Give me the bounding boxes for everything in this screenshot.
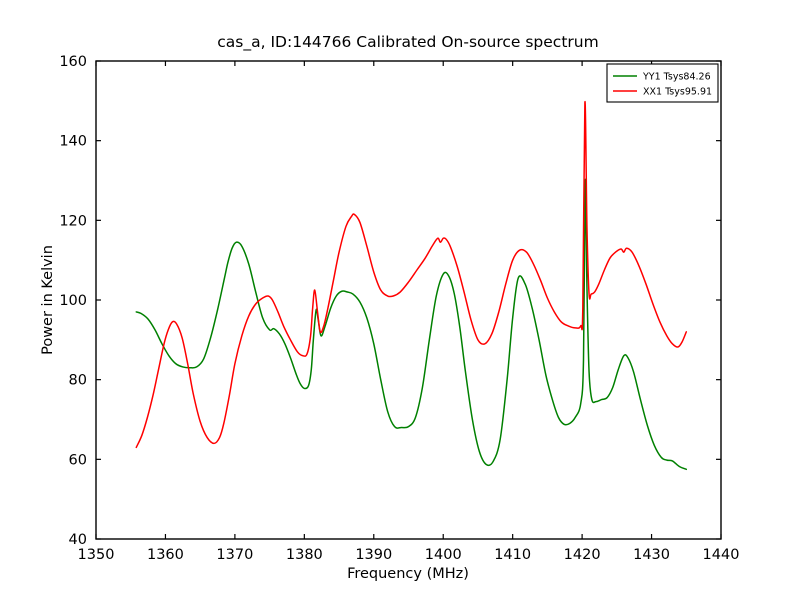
y-tick-label: 100 [59,293,87,309]
x-tick-label: 1380 [286,547,323,563]
x-tick-label: 1400 [425,547,462,563]
x-tick-label: 1370 [216,547,253,563]
y-tick-label: 160 [59,54,87,70]
y-tick-label: 40 [69,532,87,548]
legend[interactable]: YY1 Tsys84.26 XX1 Tsys95.91 [607,64,718,102]
x-tick-label: 1420 [564,547,601,563]
x-tick-label: 1440 [703,547,740,563]
y-tick-label: 80 [69,373,87,389]
plot-title: cas_a, ID:144766 Calibrated On-source sp… [217,33,598,52]
legend-label-yy1: YY1 Tsys84.26 [642,72,711,83]
spectrum-plot: cas_a, ID:144766 Calibrated On-source sp… [0,0,800,600]
y-tick-label: 60 [69,452,87,468]
x-tick-label: 1430 [633,547,670,563]
x-tick-label: 1360 [147,547,184,563]
y-tick-label: 120 [59,213,87,229]
legend-label-xx1: XX1 Tsys95.91 [643,87,712,98]
y-axis-label: Power in Kelvin [40,245,56,355]
figure-container: cas_a, ID:144766 Calibrated On-source sp… [0,0,800,600]
x-axis-label: Frequency (MHz) [347,566,469,582]
y-tick-label: 140 [59,134,87,150]
x-tick-label: 1390 [355,547,392,563]
x-tick-label: 1350 [78,547,115,563]
x-tick-label: 1410 [494,547,531,563]
